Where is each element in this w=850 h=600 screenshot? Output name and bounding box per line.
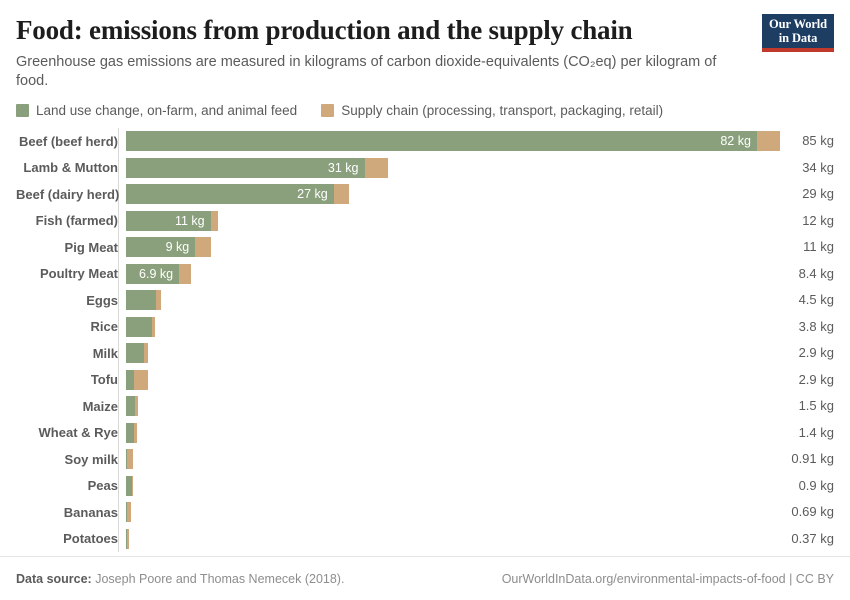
bar-segment-supply-chain[interactable] <box>134 423 136 443</box>
chart-footer: Data source: Joseph Poore and Thomas Nem… <box>0 556 850 600</box>
bar-row[interactable]: Soy milk0.91 kg <box>16 446 834 473</box>
bar-segment-land-use[interactable] <box>126 370 134 390</box>
bar-row[interactable]: Maize1.5 kg <box>16 393 834 420</box>
bar-row[interactable]: Tofu2.9 kg <box>16 367 834 394</box>
bar-row[interactable]: Poultry Meat6.9 kg8.4 kg <box>16 261 834 288</box>
bar-stack: 27 kg <box>126 184 796 204</box>
bar-total-value: 3.8 kg <box>799 317 834 337</box>
bar-row[interactable]: Bananas0.69 kg <box>16 499 834 526</box>
bar-total-value: 0.69 kg <box>791 502 834 522</box>
bar-row-label: Beef (beef herd) <box>16 134 126 149</box>
bar-row-label: Fish (farmed) <box>16 213 126 228</box>
bar-inner-value: 31 kg <box>328 158 359 178</box>
bar-total-value: 4.5 kg <box>799 290 834 310</box>
bar-segment-supply-chain[interactable] <box>195 237 210 257</box>
bar-stack <box>126 423 793 443</box>
bar-stack: 82 kg <box>126 131 796 151</box>
bar-inner-value: 82 kg <box>720 131 751 151</box>
bar-stack <box>126 343 793 363</box>
bar-stack <box>126 396 793 416</box>
bar-segment-land-use[interactable] <box>126 131 757 151</box>
legend-swatch-land-icon <box>16 104 29 117</box>
bar-row[interactable]: Peas0.9 kg <box>16 473 834 500</box>
bar-row[interactable]: Rice3.8 kg <box>16 314 834 341</box>
bar-row-label: Rice <box>16 319 126 334</box>
bar-total-value: 29 kg <box>802 184 834 204</box>
bar-segment-land-use[interactable] <box>126 396 135 416</box>
bar-total-value: 85 kg <box>802 131 834 151</box>
bar-total-value: 0.37 kg <box>791 529 834 549</box>
bar-segment-supply-chain[interactable] <box>757 131 780 151</box>
bar-total-value: 8.4 kg <box>799 264 834 284</box>
bar-stack <box>126 449 785 469</box>
bar-total-value: 2.9 kg <box>799 343 834 363</box>
legend-item-land[interactable]: Land use change, on-farm, and animal fee… <box>16 103 297 118</box>
bar-inner-value: 27 kg <box>297 184 328 204</box>
chart-legend: Land use change, on-farm, and animal fee… <box>0 91 850 118</box>
bar-row-label: Poultry Meat <box>16 266 126 281</box>
bar-total-value: 11 kg <box>803 237 834 257</box>
bar-total-value: 34 kg <box>802 158 834 178</box>
bar-stack <box>126 317 793 337</box>
bar-row-label: Peas <box>16 478 126 493</box>
bar-row[interactable]: Beef (beef herd)82 kg85 kg <box>16 128 834 155</box>
bar-total-value: 0.9 kg <box>799 476 834 496</box>
bar-segment-land-use[interactable] <box>126 317 152 337</box>
bar-stack <box>126 370 793 390</box>
bar-segment-supply-chain[interactable] <box>334 184 349 204</box>
bar-total-value: 1.4 kg <box>799 423 834 443</box>
chart-plot-area: Beef (beef herd)82 kg85 kgLamb & Mutton3… <box>0 128 850 552</box>
bar-row[interactable]: Potatoes0.37 kg <box>16 526 834 553</box>
legend-label: Land use change, on-farm, and animal fee… <box>36 103 297 118</box>
bar-inner-value: 11 kg <box>175 211 205 231</box>
bar-row[interactable]: Milk2.9 kg <box>16 340 834 367</box>
attribution-link[interactable]: OurWorldInData.org/environmental-impacts… <box>502 572 834 586</box>
bar-stack <box>126 290 793 310</box>
data-source: Data source: Joseph Poore and Thomas Nem… <box>16 572 344 586</box>
bar-row-label: Beef (dairy herd) <box>16 187 126 202</box>
bar-stack <box>126 529 785 549</box>
bar-segment-land-use[interactable] <box>126 343 144 363</box>
bar-stack <box>126 476 793 496</box>
owid-logo[interactable]: Our World in Data <box>762 14 834 52</box>
bar-stack <box>126 502 785 522</box>
data-source-text: Joseph Poore and Thomas Nemecek (2018). <box>95 572 344 586</box>
bar-segment-supply-chain[interactable] <box>134 370 149 390</box>
bar-row-label: Soy milk <box>16 452 126 467</box>
owid-logo-line1: Our World <box>762 18 834 32</box>
bar-row-label: Milk <box>16 346 126 361</box>
bar-total-value: 0.91 kg <box>791 449 834 469</box>
legend-label: Supply chain (processing, transport, pac… <box>341 103 663 118</box>
bar-rows: Beef (beef herd)82 kg85 kgLamb & Mutton3… <box>16 128 834 552</box>
owid-logo-line2: in Data <box>762 32 834 46</box>
bar-row[interactable]: Eggs4.5 kg <box>16 287 834 314</box>
bar-row-label: Eggs <box>16 293 126 308</box>
bar-segment-supply-chain[interactable] <box>156 290 161 310</box>
bar-total-value: 2.9 kg <box>799 370 834 390</box>
bar-segment-supply-chain[interactable] <box>127 502 131 522</box>
bar-total-value: 1.5 kg <box>799 396 834 416</box>
bar-row-label: Tofu <box>16 372 126 387</box>
bar-row[interactable]: Beef (dairy herd)27 kg29 kg <box>16 181 834 208</box>
bar-segment-supply-chain[interactable] <box>132 476 133 496</box>
legend-item-supply[interactable]: Supply chain (processing, transport, pac… <box>321 103 663 118</box>
bar-segment-supply-chain[interactable] <box>179 264 191 284</box>
bar-total-value: 12 kg <box>802 211 834 231</box>
bar-segment-land-use[interactable] <box>126 290 156 310</box>
bar-stack: 6.9 kg <box>126 264 793 284</box>
bar-segment-supply-chain[interactable] <box>135 396 137 416</box>
chart-subtitle: Greenhouse gas emissions are measured in… <box>16 53 728 91</box>
bar-segment-supply-chain[interactable] <box>127 449 133 469</box>
bar-row[interactable]: Fish (farmed)11 kg12 kg <box>16 208 834 235</box>
bar-stack: 11 kg <box>126 211 796 231</box>
bar-row[interactable]: Wheat & Rye1.4 kg <box>16 420 834 447</box>
bar-row-label: Bananas <box>16 505 126 520</box>
data-source-prefix: Data source: <box>16 572 92 586</box>
bar-segment-supply-chain[interactable] <box>127 529 128 549</box>
bar-row[interactable]: Pig Meat9 kg11 kg <box>16 234 834 261</box>
page-title: Food: emissions from production and the … <box>16 14 834 46</box>
bar-stack: 9 kg <box>126 237 797 257</box>
bar-segment-supply-chain[interactable] <box>211 211 219 231</box>
bar-segment-supply-chain[interactable] <box>365 158 388 178</box>
bar-row-label: Pig Meat <box>16 240 126 255</box>
bar-segment-supply-chain[interactable] <box>152 317 155 337</box>
bar-row[interactable]: Lamb & Mutton31 kg34 kg <box>16 155 834 182</box>
bar-row-label: Wheat & Rye <box>16 425 126 440</box>
bar-segment-supply-chain[interactable] <box>144 343 148 363</box>
bar-segment-land-use[interactable] <box>126 423 134 443</box>
bar-inner-value: 9 kg <box>166 237 190 257</box>
chart-header: Food: emissions from production and the … <box>0 0 850 91</box>
bar-inner-value: 6.9 kg <box>139 264 173 284</box>
bar-stack: 31 kg <box>126 158 796 178</box>
bar-row-label: Potatoes <box>16 531 126 546</box>
legend-swatch-supply-icon <box>321 104 334 117</box>
bar-row-label: Maize <box>16 399 126 414</box>
bar-row-label: Lamb & Mutton <box>16 160 126 175</box>
